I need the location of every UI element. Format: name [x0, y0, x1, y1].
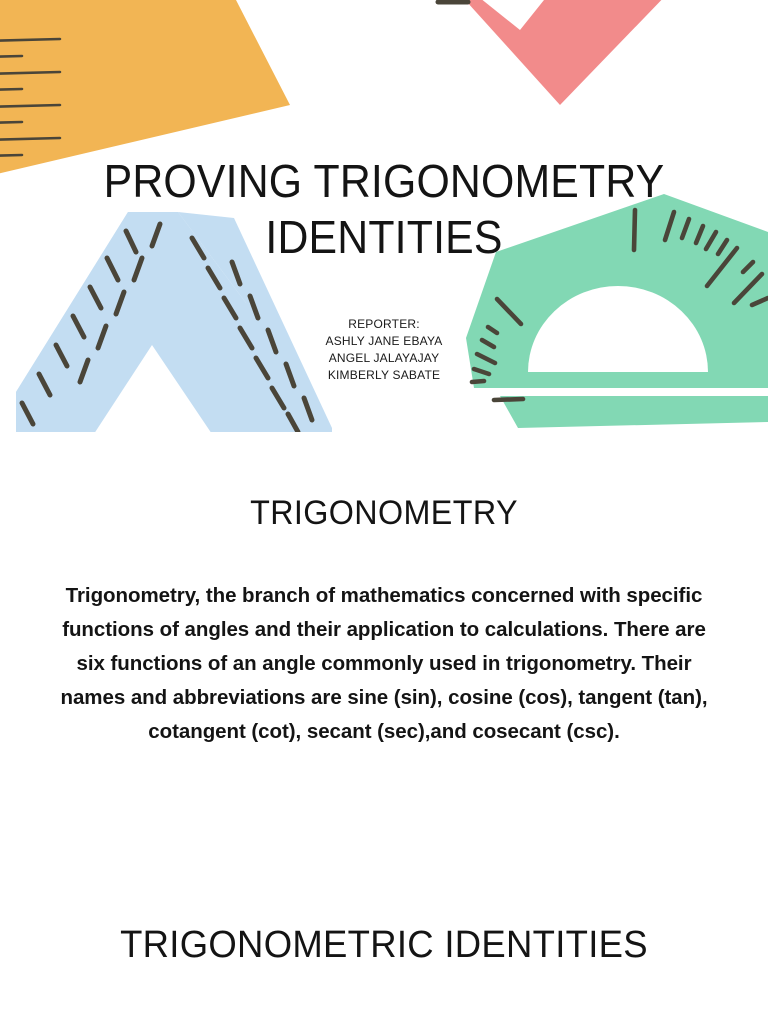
slide-trigonometric-identities: TRIGONOMETRIC IDENTITIES [0, 864, 768, 1024]
reporter-name: ASHLY JANE EBAYA [288, 333, 480, 350]
presentation-page: PROVING TRIGONOMETRY IDENTITIES REPORTER… [0, 0, 768, 1024]
section-heading: TRIGONOMETRY [19, 494, 749, 533]
closing-heading: TRIGONOMETRIC IDENTITIES [15, 920, 752, 972]
body-paragraph: Trigonometry, the branch of mathematics … [56, 579, 712, 750]
page-title: PROVING TRIGONOMETRY IDENTITIES [86, 153, 681, 266]
reporter-block: REPORTER: ASHLY JANE EBAYA ANGEL JALAYAJ… [288, 316, 480, 384]
reporter-name: ANGEL JALAYAJAY [288, 350, 480, 367]
slide-title: PROVING TRIGONOMETRY IDENTITIES REPORTER… [0, 0, 768, 432]
slide-trigonometry: TRIGONOMETRY Trigonometry, the branch of… [0, 432, 768, 864]
reporter-name: KIMBERLY SABATE [288, 367, 480, 384]
reporter-label: REPORTER: [288, 316, 480, 333]
